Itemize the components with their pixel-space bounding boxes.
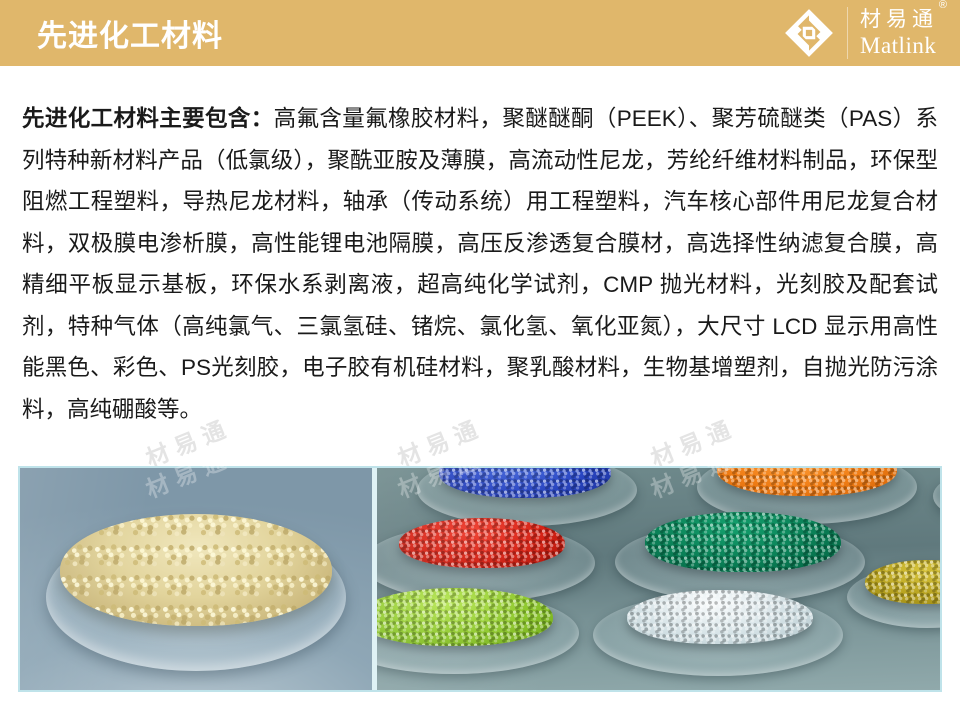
figure-strip	[18, 466, 942, 692]
pellet-heap-green	[645, 512, 841, 572]
matlink-diamond-logo-icon	[783, 7, 835, 59]
photo-coloured-pellets	[377, 468, 940, 690]
granule-texture	[60, 514, 332, 626]
pellet-heap-lime	[377, 588, 553, 646]
brand-name-en: Matlink	[860, 34, 938, 57]
brand-name-cn: 材易通 ®	[860, 9, 938, 30]
granule-heap	[60, 514, 332, 626]
pellet-heap-clear	[627, 590, 813, 644]
registered-trademark-icon: ®	[939, 0, 947, 11]
brand-logo: 材易通 ® Matlink	[783, 0, 938, 66]
photo-cream-granules	[20, 468, 377, 690]
page-title: 先进化工材料	[37, 0, 223, 66]
brand-divider	[847, 7, 848, 59]
page-header: 先进化工材料 材易通 ® Matlink	[0, 0, 960, 66]
brand-name-cn-label: 材易通	[860, 8, 938, 31]
content-lead: 先进化工材料主要包含：	[22, 106, 274, 131]
brand-text: 材易通 ® Matlink	[860, 9, 938, 57]
pellet-heap-red	[399, 518, 565, 568]
content-body: 高氟含量氟橡胶材料，聚醚醚酮（PEEK）、聚芳硫醚类（PAS）系列特种新材料产品…	[22, 106, 938, 422]
content-paragraph: 先进化工材料主要包含：高氟含量氟橡胶材料，聚醚醚酮（PEEK）、聚芳硫醚类（PA…	[22, 98, 938, 430]
